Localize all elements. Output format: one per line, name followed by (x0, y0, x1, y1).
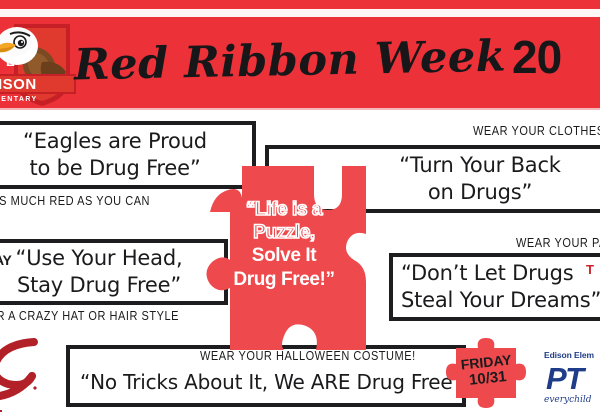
page-title: Red Ribbon Week (94, 16, 486, 106)
activity-caption-tuesday: WEAR YOUR CLOTHES BAC (473, 124, 600, 138)
svg-text:ISON: ISON (0, 76, 37, 93)
pta-wordmark: PT (546, 361, 583, 397)
pta-org-name: Edison Elem (544, 350, 594, 360)
day-label-wednesday: AY (0, 252, 12, 268)
activity-caption-wednesday: WEAR A CRAZY HAT OR HAIR STYLE (0, 309, 179, 323)
svg-text:E: E (6, 54, 15, 69)
saying-box-thursday: “Don’t Let Drugs Steal Your Dreams” (389, 253, 600, 321)
svg-text:MENTARY: MENTARY (0, 96, 38, 103)
activity-caption-thursday: WEAR YOUR PAJA (516, 236, 600, 250)
activity-caption-monday: AR AS MUCH RED AS YOU CAN (0, 194, 150, 208)
saying-line-1: “Use Your Head, (16, 245, 183, 272)
saying-line-1: “No Tricks About It, We ARE Drug Free” (80, 370, 463, 396)
edison-pta-logo: Edison Elem PT everychild (538, 350, 600, 410)
red-ribbon-week-flyer: ISON MENTARY E Red Ribbon Week 20 “Eagle… (0, 0, 600, 414)
saying-box-wednesday: “Use Your Head, Stay Drug Free” (0, 239, 228, 305)
center-puzzle-piece-icon (196, 160, 372, 356)
banner-underline (0, 108, 600, 110)
saying-line-1: “Eagles are Proud (23, 128, 207, 155)
top-accent-stripe (0, 0, 600, 9)
stripe-gap (0, 9, 600, 17)
saying-line-1: “Turn Your Back (399, 152, 561, 179)
day-label-thursday: T (586, 262, 594, 277)
day-badge-friday: FRIDAY 10/31 (438, 336, 534, 414)
saying-line-2: on Drugs” (428, 179, 532, 206)
saying-line-2: to be Drug Free” (29, 155, 200, 182)
saying-line-2: Steal Your Dreams” (401, 287, 600, 314)
saying-line-1: “Don’t Let Drugs (401, 260, 574, 287)
saying-line-2: Stay Drug Free” (17, 272, 181, 299)
pta-tagline: everychild (544, 395, 591, 405)
red-ribbon-graphic-icon (0, 338, 50, 414)
year-label: 20 (512, 30, 561, 84)
edison-eagle-logo: ISON MENTARY E (0, 18, 80, 110)
